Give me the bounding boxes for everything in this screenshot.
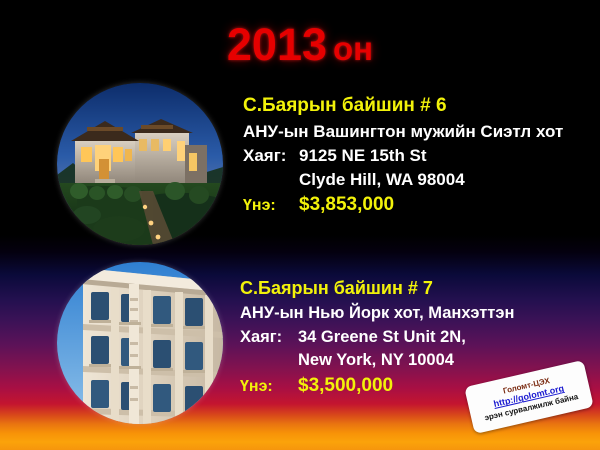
soho-facade-illustration (57, 262, 223, 424)
listing-1-address-line-1: 9125 NE 15th St (299, 146, 427, 165)
listing-1-price-row: Үнэ:$3,853,000 (243, 195, 563, 214)
listing-2-address-line-2: New York, NY 10004 (298, 351, 454, 369)
listing-2-location: АНУ-ын Нью Йорк хот, Манхэттэн (240, 305, 514, 322)
listing-1-address-row-2: Clyde Hill, WA 98004 (243, 171, 563, 188)
listing-2-address-row-1: Хаяг:34 Greene St Unit 2N, (240, 329, 514, 346)
house-dusk-illustration (57, 83, 223, 245)
listing-1-price-value: $3,853,000 (299, 194, 394, 215)
listing-info-2: С.Баярын байшин # 7 АНУ-ын Нью Йорк хот,… (240, 279, 514, 395)
listing-1-price-label: Үнэ: (243, 198, 299, 214)
title-year: 2013 (227, 19, 327, 70)
listing-photo-1 (57, 83, 223, 245)
title-suffix: он (333, 30, 373, 67)
listing-2-address-label: Хаяг: (240, 329, 298, 346)
listing-1-address-line-2: Clyde Hill, WA 98004 (299, 170, 465, 189)
listing-2-price-value: $3,500,000 (298, 375, 393, 396)
listing-photo-2 (57, 262, 223, 424)
listing-2-address-line-1: 34 Greene St Unit 2N, (298, 328, 466, 346)
listing-2-heading: С.Баярын байшин # 7 (240, 279, 514, 297)
slide-canvas: 2013он (0, 0, 600, 450)
listing-2-address-row-2: New York, NY 10004 (240, 352, 514, 369)
listing-1-address-label: Хаяг: (243, 147, 299, 164)
listing-2-price-label: Үнэ: (240, 379, 298, 395)
listing-1-address-row-1: Хаяг:9125 NE 15th St (243, 147, 563, 164)
listing-1-heading: С.Баярын байшин # 6 (243, 96, 563, 115)
listing-1-location: АНУ-ын Вашингтон мужийн Сиэтл хот (243, 123, 563, 140)
listing-info-1: С.Баярын байшин # 6 АНУ-ын Вашингтон муж… (243, 96, 563, 214)
page-title: 2013он (0, 22, 600, 67)
